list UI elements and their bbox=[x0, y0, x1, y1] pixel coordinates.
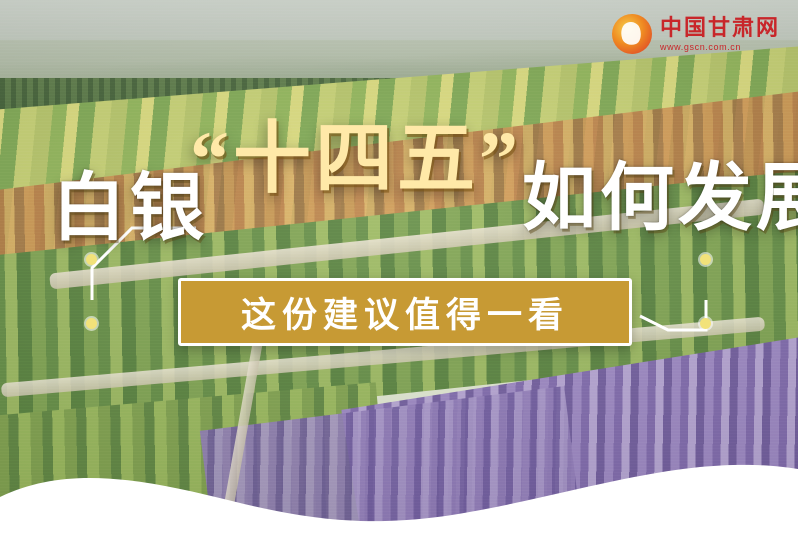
headline-block: 白银 “十四五” 如何发展 bbox=[52, 96, 752, 236]
headline-main: 白银 bbox=[52, 148, 208, 255]
decor-dot-bottom-right bbox=[700, 318, 711, 329]
logo-url: www.gscn.com.cn bbox=[660, 43, 780, 52]
headline-tail: 如何发展 bbox=[522, 138, 798, 245]
subtitle-text: 这份建议值得一看 bbox=[241, 287, 569, 338]
logo-text-block: 中国甘肃网 www.gscn.com.cn bbox=[660, 17, 780, 52]
flame-logo-icon bbox=[612, 14, 652, 54]
bottom-wave-shape bbox=[0, 423, 798, 533]
decor-dot-top-left bbox=[86, 254, 97, 265]
subtitle-banner[interactable]: 这份建议值得一看 bbox=[178, 278, 632, 346]
site-logo[interactable]: 中国甘肃网 www.gscn.com.cn bbox=[612, 14, 780, 54]
logo-name: 中国甘肃网 bbox=[660, 17, 780, 39]
poster-banner: 中国甘肃网 www.gscn.com.cn 白银 “十四五” 如何发展 这份建议… bbox=[0, 0, 798, 533]
headline-quoted-term: “十四五” bbox=[190, 96, 522, 208]
decor-dot-top-right bbox=[700, 254, 711, 265]
decor-dot-bottom-left bbox=[86, 318, 97, 329]
